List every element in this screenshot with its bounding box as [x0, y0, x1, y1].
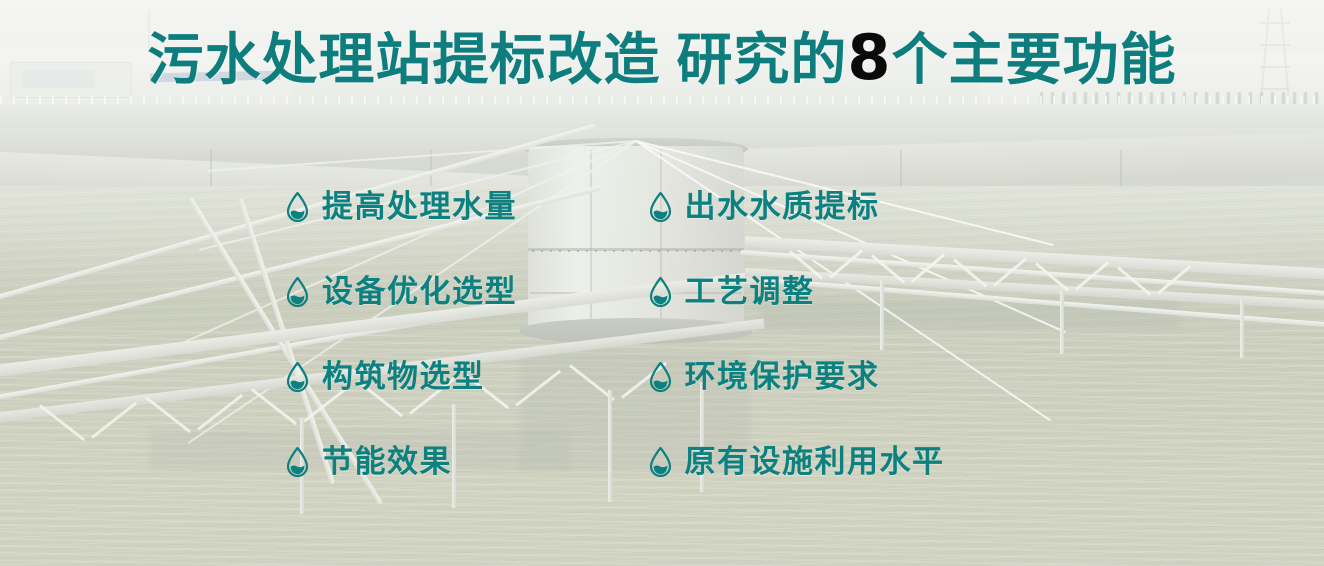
feature-label: 工艺调整 [685, 275, 815, 309]
feature-label: 设备优化选型 [322, 275, 517, 309]
water-drop-icon [649, 192, 672, 222]
banner-content: 污水处理站提标改造研究的8个主要功能 提高处理水量 出水水质提标 [0, 0, 1324, 566]
title-part-before: 污水处理站提标改造 [147, 28, 660, 93]
page-title: 污水处理站提标改造研究的8个主要功能 [0, 27, 1324, 92]
feature-item-5[interactable]: 构筑物选型 [278, 360, 641, 394]
feature-item-3[interactable]: 设备优化选型 [278, 275, 641, 309]
title-part-middle: 研究的 [676, 28, 847, 93]
water-drop-icon [286, 447, 309, 477]
feature-label: 原有设施利用水平 [685, 445, 945, 479]
feature-item-2[interactable]: 出水水质提标 [641, 190, 1068, 224]
feature-item-6[interactable]: 环境保护要求 [641, 360, 1068, 394]
water-drop-icon [286, 277, 309, 307]
feature-label: 提高处理水量 [322, 190, 517, 224]
feature-label: 构筑物选型 [322, 360, 485, 394]
water-drop-icon [649, 447, 672, 477]
water-drop-icon [286, 362, 309, 392]
water-drop-icon [649, 277, 672, 307]
water-drop-icon [649, 362, 672, 392]
banner: 污水处理站提标改造研究的8个主要功能 提高处理水量 出水水质提标 [0, 0, 1324, 566]
title-part-after: 个主要功能 [892, 28, 1177, 93]
feature-item-4[interactable]: 工艺调整 [641, 275, 1068, 309]
feature-row: 设备优化选型 工艺调整 [278, 275, 1068, 360]
feature-label: 节能效果 [322, 445, 452, 479]
title-number: 8 [847, 21, 891, 94]
feature-item-8[interactable]: 原有设施利用水平 [641, 445, 1068, 479]
feature-row: 构筑物选型 环境保护要求 [278, 360, 1068, 445]
feature-item-1[interactable]: 提高处理水量 [278, 190, 641, 224]
feature-row: 提高处理水量 出水水质提标 [278, 190, 1068, 275]
feature-item-7[interactable]: 节能效果 [278, 445, 641, 479]
feature-list: 提高处理水量 出水水质提标 设备优化选型 [278, 190, 1068, 530]
feature-label: 出水水质提标 [685, 190, 880, 224]
feature-row: 节能效果 原有设施利用水平 [278, 445, 1068, 530]
water-drop-icon [286, 192, 309, 222]
feature-label: 环境保护要求 [685, 360, 880, 394]
